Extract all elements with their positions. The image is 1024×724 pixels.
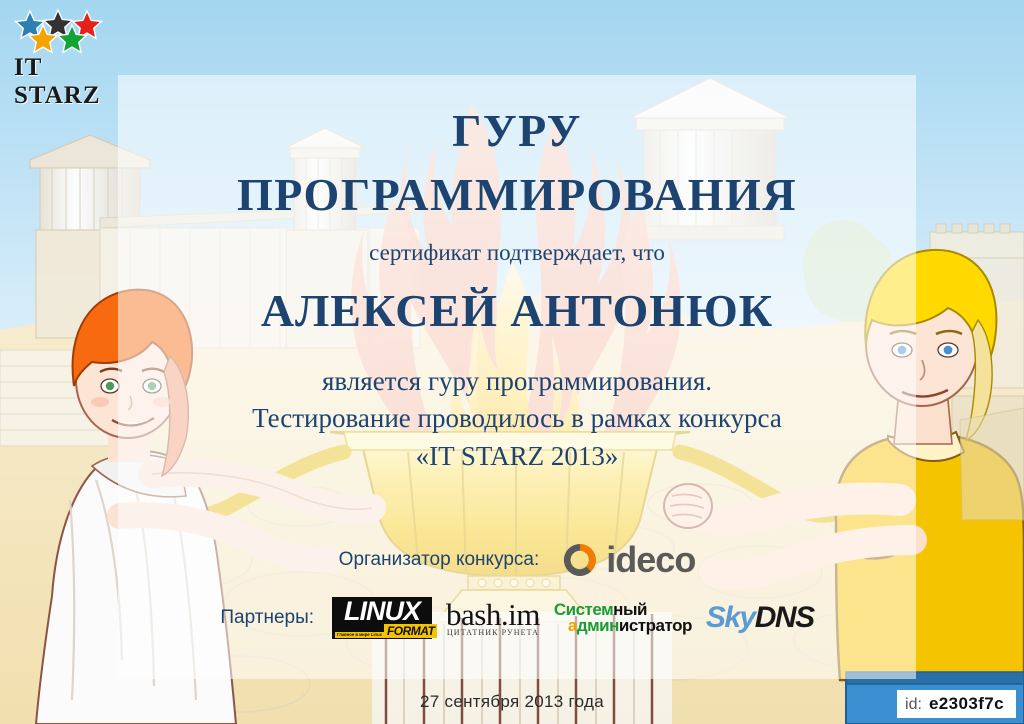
- bash-im-secondary: ЦИТАТНИК РУНЕТА: [446, 629, 540, 637]
- certificate-title: ГУРУ ПРОГРАММИРОВАНИЯ: [118, 105, 916, 220]
- sysadmin-line2-orange: а: [568, 616, 577, 635]
- linux-format-secondary: FORMAT: [384, 624, 437, 638]
- linux-format-tagline: Главное в мире Linux: [335, 632, 384, 638]
- certificate-subtitle: сертификат подтверждает, что: [118, 240, 916, 266]
- body-line-3: «IT STARZ 2013»: [118, 438, 916, 475]
- skydns-secondary: DNS: [755, 601, 814, 634]
- ideco-ring-icon: [561, 541, 599, 579]
- bash-im-logo: bash.im ЦИТАТНИК РУНЕТА: [446, 599, 540, 637]
- ideco-logo: ideco: [561, 541, 695, 579]
- skydns-main: Sky: [706, 601, 755, 634]
- organizer-row: Организатор конкурса: ideco: [118, 541, 916, 579]
- certificate-date: 27 сентября 2013 года: [0, 692, 1024, 712]
- id-label: id:: [905, 696, 922, 714]
- title-line-1: ГУРУ: [118, 105, 916, 157]
- recipient-name: АЛЕКСЕЙ АНТОНЮК: [118, 284, 916, 337]
- title-line-2: ПРОГРАММИРОВАНИЯ: [118, 169, 916, 221]
- organizer-label: Организатор конкурса:: [339, 549, 540, 571]
- linux-format-main: LINUX: [335, 600, 429, 623]
- linux-format-logo: LINUX Главное в мире Linux FORMAT: [332, 597, 432, 639]
- certificate-canvas: IT STARZ ГУРУ ПРОГРАММИРОВАНИЯ сертифика…: [0, 0, 1024, 724]
- ideco-wordmark: ideco: [606, 542, 695, 578]
- certificate-content: ГУРУ ПРОГРАММИРОВАНИЯ сертификат подтвер…: [118, 75, 916, 679]
- skydns-logo: SkyDNS: [706, 603, 814, 633]
- sysadmin-line2-green: дмин: [577, 616, 619, 635]
- logo-stars: [12, 8, 132, 52]
- bash-im-main: bash.im: [446, 599, 540, 630]
- body-line-2: Тестирование проводилось в рамках конкур…: [118, 400, 916, 437]
- certificate-body: является гуру программирования. Тестиров…: [118, 363, 916, 475]
- it-starz-logo: IT STARZ: [12, 8, 132, 90]
- sysadmin-line2-black: истратор: [619, 616, 692, 635]
- sysadmin-line-2: администратор: [554, 618, 692, 634]
- id-value: e2303f7c: [929, 694, 1004, 714]
- id-badge: id: e2303f7c: [897, 690, 1016, 718]
- logo-wordmark: IT STARZ: [14, 54, 132, 110]
- body-line-1: является гуру программирования.: [118, 363, 916, 400]
- partners-label: Партнеры:: [220, 607, 314, 629]
- linux-format-bottom: Главное в мире Linux FORMAT: [335, 624, 429, 638]
- sistemny-administrator-logo: Системный администратор: [554, 602, 692, 634]
- partners-row: Партнеры: LINUX Главное в мире Linux FOR…: [118, 597, 916, 639]
